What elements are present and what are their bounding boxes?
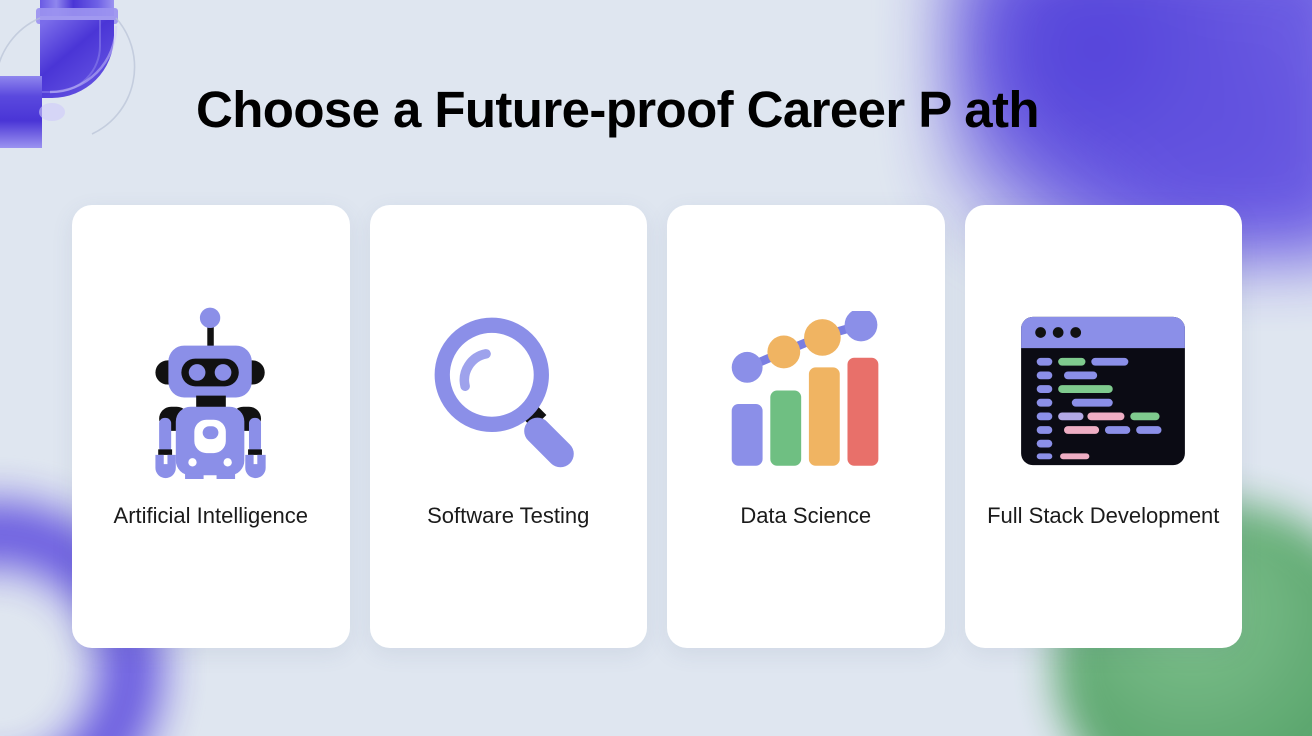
robot-icon [121, 301, 301, 481]
career-card-artificial-intelligence[interactable]: Artificial Intelligence [72, 205, 350, 648]
card-label: Data Science [740, 503, 871, 529]
slide-canvas: Choose a Future-proof Career P ath [0, 0, 1312, 736]
card-label: Artificial Intelligence [114, 503, 308, 529]
code-window-icon [1013, 301, 1193, 481]
bar-chart-line-icon [716, 301, 896, 481]
magnifying-glass-icon [418, 301, 598, 481]
career-card-software-testing[interactable]: Software Testing [370, 205, 648, 648]
career-card-row: Artificial Intelligence Software Testing [72, 205, 1242, 648]
card-label: Full Stack Development [987, 503, 1219, 529]
pipe-elbow-icon [0, 0, 196, 174]
card-label: Software Testing [427, 503, 589, 529]
career-card-full-stack-development[interactable]: Full Stack Development [965, 205, 1243, 648]
page-title: Choose a Future-proof Career P ath [196, 80, 1039, 139]
career-card-data-science[interactable]: Data Science [667, 205, 945, 648]
